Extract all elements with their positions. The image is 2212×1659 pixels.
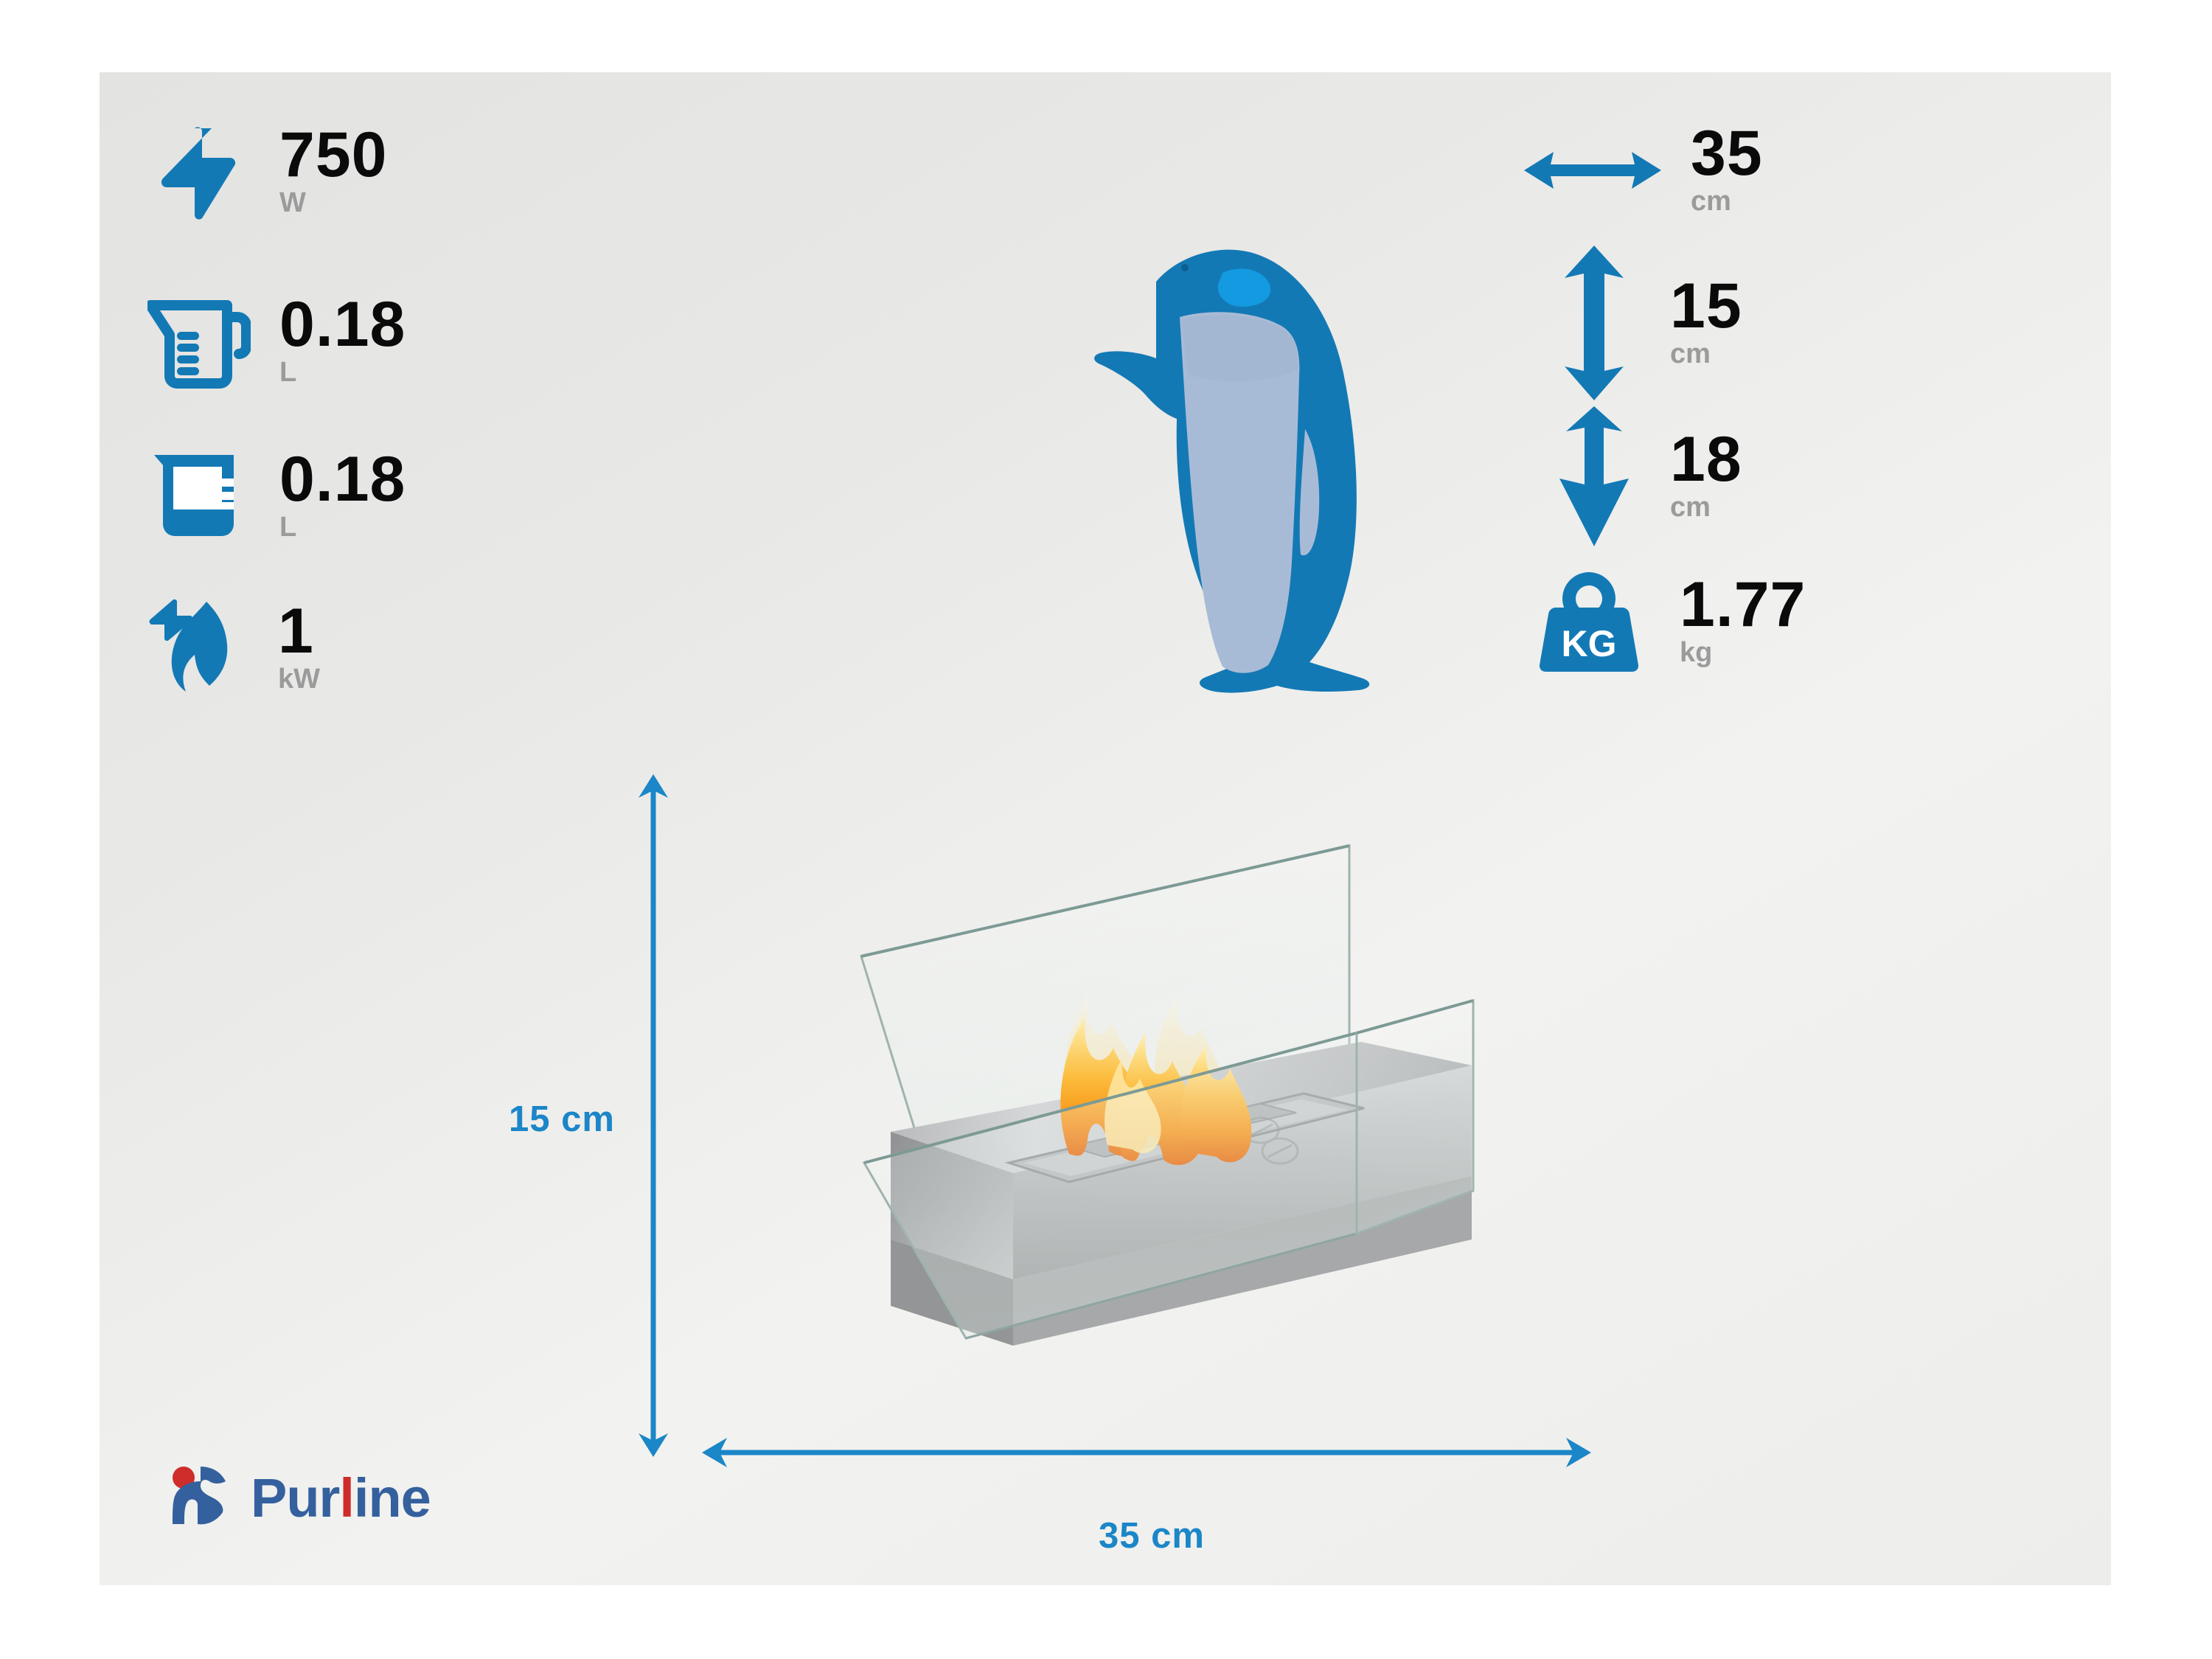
spec-row-heat-output: 1 kW [142, 593, 320, 703]
measuring-jug-icon [144, 286, 254, 397]
spec-text-heat-output: 1 kW [278, 602, 320, 695]
svg-text:KG: KG [1562, 623, 1617, 664]
logo-word-part-2: ine [354, 1467, 431, 1528]
spec-unit-height: cm [1670, 340, 1742, 369]
purline-wordmark: Purline [251, 1471, 431, 1526]
spec-text-weight: 1.77 kg [1680, 575, 1806, 668]
spec-value-power: 750 [279, 125, 388, 186]
penguin-illustration [1084, 229, 1408, 730]
width-dimension-line [700, 1430, 1593, 1475]
logo-word-letter-l: l [339, 1467, 354, 1528]
flame-power-icon [142, 593, 253, 703]
spec-text-width: 35 cm [1691, 124, 1763, 217]
spec-row-height: 15 cm [1546, 242, 1742, 404]
height-dimension-label: 15 cm [509, 1099, 615, 1140]
spec-row-tank: 0.18 L [144, 441, 406, 552]
spec-value-heat-output: 1 [278, 602, 320, 662]
spec-text-height: 15 cm [1670, 276, 1742, 369]
spec-text-capacity: 0.18 L [279, 295, 406, 388]
depth-arrow-icon [1546, 403, 1642, 550]
spec-text-power: 750 W [279, 125, 388, 218]
spec-row-width: 35 cm [1523, 115, 1763, 226]
spec-unit-power: W [279, 189, 388, 218]
spec-unit-tank: L [279, 513, 406, 543]
spec-row-power: 750 W [144, 116, 388, 227]
height-dimension-line [636, 773, 671, 1458]
height-arrow-icon [1546, 242, 1642, 404]
spec-unit-depth: cm [1670, 493, 1742, 523]
spec-row-depth: 18 cm [1546, 403, 1742, 550]
spec-row-capacity: 0.18 L [144, 286, 406, 397]
logo-word-part-1: Pur [251, 1467, 339, 1528]
weight-kg-icon: KG [1526, 559, 1652, 684]
spec-unit-heat-output: kW [278, 665, 320, 695]
spec-value-tank: 0.18 [279, 450, 406, 510]
power-bolt-icon [144, 116, 254, 227]
spec-unit-capacity: L [279, 358, 406, 388]
spec-value-height: 15 [1670, 276, 1742, 337]
purline-logo[interactable]: Purline [168, 1455, 448, 1542]
infographic-page: 750 W 0.18 L [0, 0, 2212, 1659]
purline-logo-mark [168, 1465, 234, 1531]
width-arrow-icon [1523, 115, 1663, 226]
spec-unit-width: cm [1691, 187, 1763, 217]
spec-unit-weight: kg [1680, 639, 1806, 668]
spec-value-capacity: 0.18 [279, 295, 406, 355]
spec-value-width: 35 [1691, 124, 1763, 184]
spec-text-tank: 0.18 L [279, 450, 406, 543]
fuel-tank-icon [144, 441, 254, 552]
spec-value-weight: 1.77 [1680, 575, 1806, 636]
spec-text-depth: 18 cm [1670, 430, 1742, 523]
spec-value-depth: 18 [1670, 430, 1742, 490]
spec-row-weight: KG 1.77 kg [1526, 559, 1806, 684]
bioethanol-tabletop-fireplace-photo [848, 829, 1519, 1357]
width-dimension-label: 35 cm [1099, 1515, 1205, 1557]
